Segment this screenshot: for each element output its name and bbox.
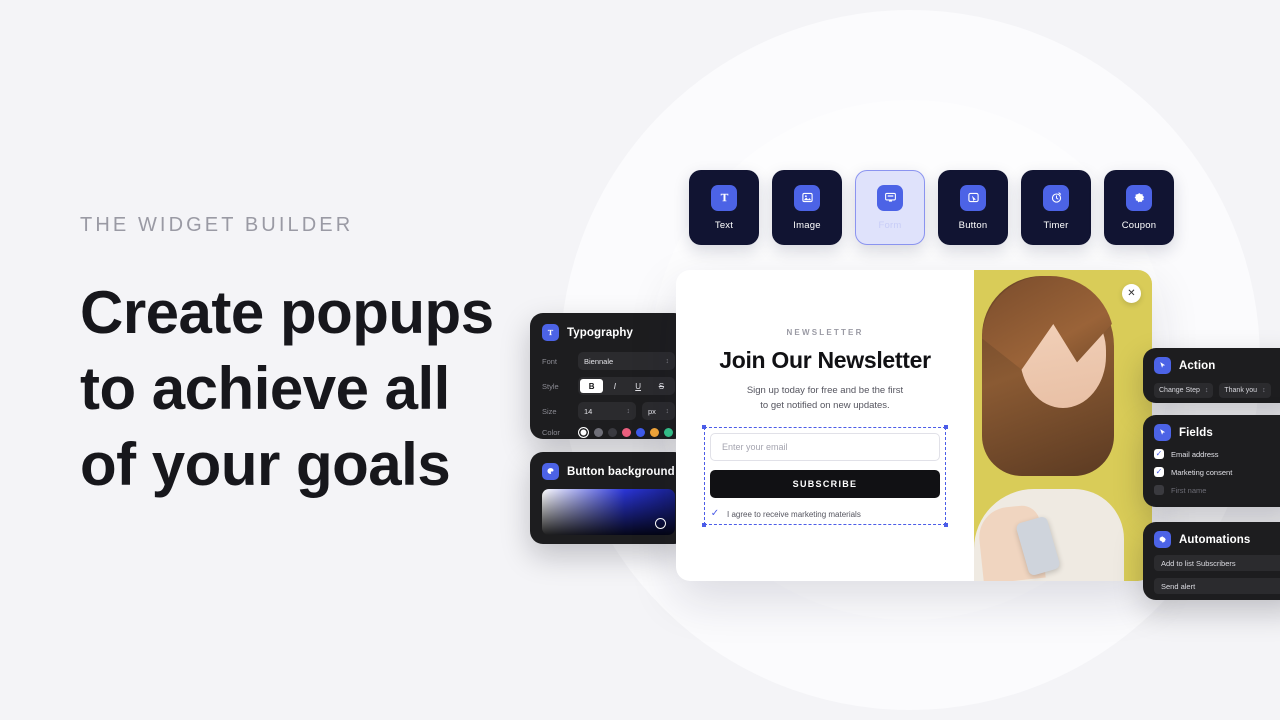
- action-panel-title: Action: [1179, 360, 1215, 372]
- tool-button[interactable]: Button: [938, 170, 1008, 245]
- font-label: Font: [542, 357, 578, 366]
- image-icon: [794, 185, 820, 211]
- button-background-panel: Button background: [530, 452, 687, 544]
- selection-handle-tr[interactable]: [944, 425, 948, 429]
- timer-icon: [1043, 185, 1069, 211]
- selection-handle-tl[interactable]: [702, 425, 706, 429]
- chevron-updown-icon: ↕: [627, 408, 631, 415]
- typography-panel-header: Typography: [542, 324, 675, 341]
- size-unit-value: px: [648, 407, 656, 416]
- strikethrough-button[interactable]: S: [650, 379, 673, 393]
- chevron-updown-icon: ↕: [1205, 387, 1209, 394]
- form-icon: [877, 185, 903, 211]
- popup-title: Join Our Newsletter: [704, 347, 946, 374]
- font-value: Biennale: [584, 357, 613, 366]
- size-input[interactable]: 14 ↕: [578, 402, 636, 420]
- bold-button[interactable]: B: [580, 379, 603, 393]
- page-root: THE WIDGET BUILDER Create popups to achi…: [0, 0, 1280, 720]
- size-row: Size 14 ↕ px ↕: [542, 402, 675, 420]
- automation-label-add-to-list: Add to list Subscribers: [1161, 559, 1236, 568]
- fields-panel-title: Fields: [1179, 427, 1213, 439]
- tool-form[interactable]: Form: [855, 170, 925, 245]
- fields-panel-header: Fields: [1154, 424, 1280, 441]
- tool-label-text: Text: [715, 220, 733, 231]
- coupon-icon: [1126, 185, 1152, 211]
- color-swatches: [578, 427, 673, 438]
- field-label-email: Email address: [1171, 450, 1219, 459]
- action-panel: Action Change Step ↕ Thank you ↕: [1143, 348, 1280, 403]
- automation-label-send-alert: Send alert: [1161, 582, 1195, 591]
- chevron-updown-icon: ↕: [1262, 387, 1266, 394]
- field-row-firstname[interactable]: First name: [1154, 485, 1280, 495]
- color-swatch-pink[interactable]: [622, 428, 631, 437]
- paint-icon: [542, 463, 559, 480]
- popup-eyebrow: NEWSLETTER: [704, 328, 946, 337]
- button-background-title: Button background: [567, 466, 675, 478]
- selection-handle-bl[interactable]: [702, 523, 706, 527]
- color-swatch-white[interactable]: [578, 427, 589, 438]
- gear-icon: [1154, 531, 1171, 548]
- selection-handle-br[interactable]: [944, 523, 948, 527]
- tool-image[interactable]: Image: [772, 170, 842, 245]
- font-row: Font Biennale ↕: [542, 352, 675, 370]
- automation-item-send-alert[interactable]: Send alert ⋮: [1154, 578, 1280, 594]
- cursor-icon: [1154, 357, 1171, 374]
- tool-label-coupon: Coupon: [1122, 220, 1156, 231]
- style-button-group: B I U S: [578, 377, 675, 395]
- tool-label-image: Image: [793, 220, 820, 231]
- action-selects: Change Step ↕ Thank you ↕: [1154, 383, 1280, 398]
- style-row: Style B I U S: [542, 377, 675, 395]
- color-swatch-blue[interactable]: [636, 428, 645, 437]
- tool-label-form: Form: [879, 220, 902, 231]
- checkbox-unchecked-icon: [1154, 485, 1164, 495]
- tool-label-timer: Timer: [1044, 220, 1069, 231]
- automation-item-add-to-list[interactable]: Add to list Subscribers ⋮: [1154, 555, 1280, 571]
- button-background-header: Button background: [542, 463, 675, 480]
- popup-content: NEWSLETTER Join Our Newsletter Sign up t…: [676, 270, 974, 581]
- size-label: Size: [542, 407, 578, 416]
- automations-panel: Automations Add to list Subscribers ⋮ Se…: [1143, 522, 1280, 600]
- popup-image: ✕: [974, 270, 1152, 581]
- action-step-select[interactable]: Change Step ↕: [1154, 383, 1213, 398]
- hero-copy: THE WIDGET BUILDER Create popups to achi…: [80, 214, 550, 503]
- tool-timer[interactable]: Timer: [1021, 170, 1091, 245]
- headline-line-2: to achieve all: [80, 351, 550, 427]
- chevron-updown-icon: ↕: [666, 408, 670, 415]
- action-target-select[interactable]: Thank you ↕: [1219, 383, 1270, 398]
- typography-panel-title: Typography: [567, 327, 633, 339]
- color-label: Color: [542, 428, 578, 437]
- text-icon: [711, 185, 737, 211]
- headline-line-1: Create popups: [80, 275, 550, 351]
- font-select[interactable]: Biennale ↕: [578, 352, 675, 370]
- action-step-value: Change Step: [1159, 387, 1200, 394]
- popup-subtitle: Sign up today for free and be the first …: [704, 383, 946, 413]
- page-title: Create popups to achieve all of your goa…: [80, 275, 550, 503]
- newsletter-popup: NEWSLETTER Join Our Newsletter Sign up t…: [676, 270, 1152, 581]
- tool-coupon[interactable]: Coupon: [1104, 170, 1174, 245]
- gradient-picker[interactable]: [542, 489, 675, 535]
- automations-panel-title: Automations: [1179, 534, 1250, 546]
- fields-panel: Fields ✓ Email address ✓ Marketing conse…: [1143, 415, 1280, 507]
- action-target-value: Thank you: [1224, 387, 1257, 394]
- checkbox-checked-icon: ✓: [1154, 467, 1164, 477]
- field-row-email[interactable]: ✓ Email address: [1154, 449, 1280, 459]
- automations-panel-header: Automations: [1154, 531, 1280, 548]
- gradient-handle[interactable]: [655, 518, 666, 529]
- chevron-updown-icon: ↕: [666, 358, 670, 365]
- field-label-firstname: First name: [1171, 486, 1206, 495]
- size-unit-select[interactable]: px ↕: [642, 402, 675, 420]
- action-panel-header: Action: [1154, 357, 1280, 374]
- style-label: Style: [542, 382, 578, 391]
- headline-line-3: of your goals: [80, 427, 550, 503]
- widget-toolbar: Text Image Form Button Timer: [689, 170, 1174, 245]
- text-icon: [542, 324, 559, 341]
- popup-subtitle-line-1: Sign up today for free and be the first: [747, 385, 903, 396]
- color-swatch-dark[interactable]: [608, 428, 617, 437]
- field-row-consent[interactable]: ✓ Marketing consent: [1154, 467, 1280, 477]
- italic-button[interactable]: I: [603, 379, 626, 393]
- checkbox-checked-icon: ✓: [1154, 449, 1164, 459]
- color-swatch-orange[interactable]: [650, 428, 659, 437]
- cursor-icon: [1154, 424, 1171, 441]
- size-value: 14: [584, 407, 592, 416]
- color-swatch-gray[interactable]: [594, 428, 603, 437]
- color-swatch-green[interactable]: [664, 428, 673, 437]
- close-icon[interactable]: ✕: [1122, 284, 1141, 303]
- popup-form-selection: Enter your email SUBSCRIBE ✓ I agree to …: [704, 427, 946, 525]
- popup-subtitle-line-2: to get notified on new updates.: [760, 400, 889, 411]
- color-row: Color: [542, 427, 675, 438]
- tool-text[interactable]: Text: [689, 170, 759, 245]
- tool-label-button: Button: [959, 220, 988, 231]
- hero-eyebrow: THE WIDGET BUILDER: [80, 214, 550, 237]
- selection-outline: [704, 427, 946, 525]
- typography-panel: Typography Font Biennale ↕ Style B I U S…: [530, 313, 687, 439]
- field-label-consent: Marketing consent: [1171, 468, 1232, 477]
- button-icon: [960, 185, 986, 211]
- underline-button[interactable]: U: [627, 379, 650, 393]
